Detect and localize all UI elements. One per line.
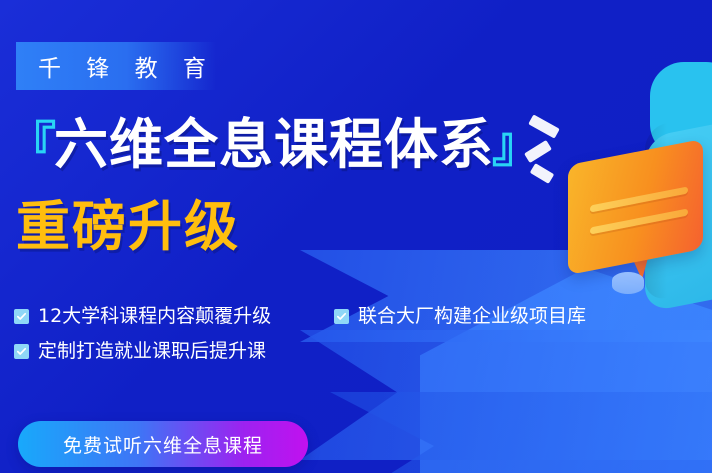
speech-bubble-base: [612, 272, 644, 294]
feature-label-2: 联合大厂构建企业级项目库: [358, 306, 586, 327]
feature-row-1: 12大学科课程内容颠覆升级 联合大厂构建企业级项目库: [14, 306, 704, 327]
feature-label-3: 定制打造就业课职后提升课: [38, 341, 266, 362]
checkbox-checked-icon: [14, 344, 29, 359]
headline-secondary-text: 重磅升级: [16, 200, 240, 254]
feature-item-2: 联合大厂构建企业级项目库: [334, 306, 586, 327]
brand-logo-text: 千 锋 教 育: [16, 49, 215, 83]
feature-row-2: 定制打造就业课职后提升课: [14, 341, 704, 362]
brand-logo-bar: 千 锋 教 育: [16, 42, 216, 90]
feature-list: 12大学科课程内容颠覆升级 联合大厂构建企业级项目库 定制打造就业课职后提升课: [14, 306, 704, 376]
feature-label-1: 12大学科课程内容颠覆升级: [38, 306, 271, 327]
checkbox-checked-icon: [14, 309, 29, 324]
feature-item-1: 12大学科课程内容颠覆升级: [14, 306, 334, 327]
headline-primary: 『 六维全息课程体系 』: [8, 118, 540, 172]
free-trial-cta-button[interactable]: 免费试听六维全息课程: [18, 421, 308, 467]
headline-main-text: 六维全息课程体系: [54, 118, 494, 172]
feature-item-3: 定制打造就业课职后提升课: [14, 341, 334, 362]
checkbox-checked-icon: [334, 309, 349, 324]
bracket-left-icon: 『: [8, 121, 56, 169]
promo-banner: 重新定 教研格 中台战 生态发 千 锋 教 育 『 六维全息课程体系 』 重磅升…: [0, 0, 712, 473]
bracket-right-icon: 』: [492, 121, 540, 169]
